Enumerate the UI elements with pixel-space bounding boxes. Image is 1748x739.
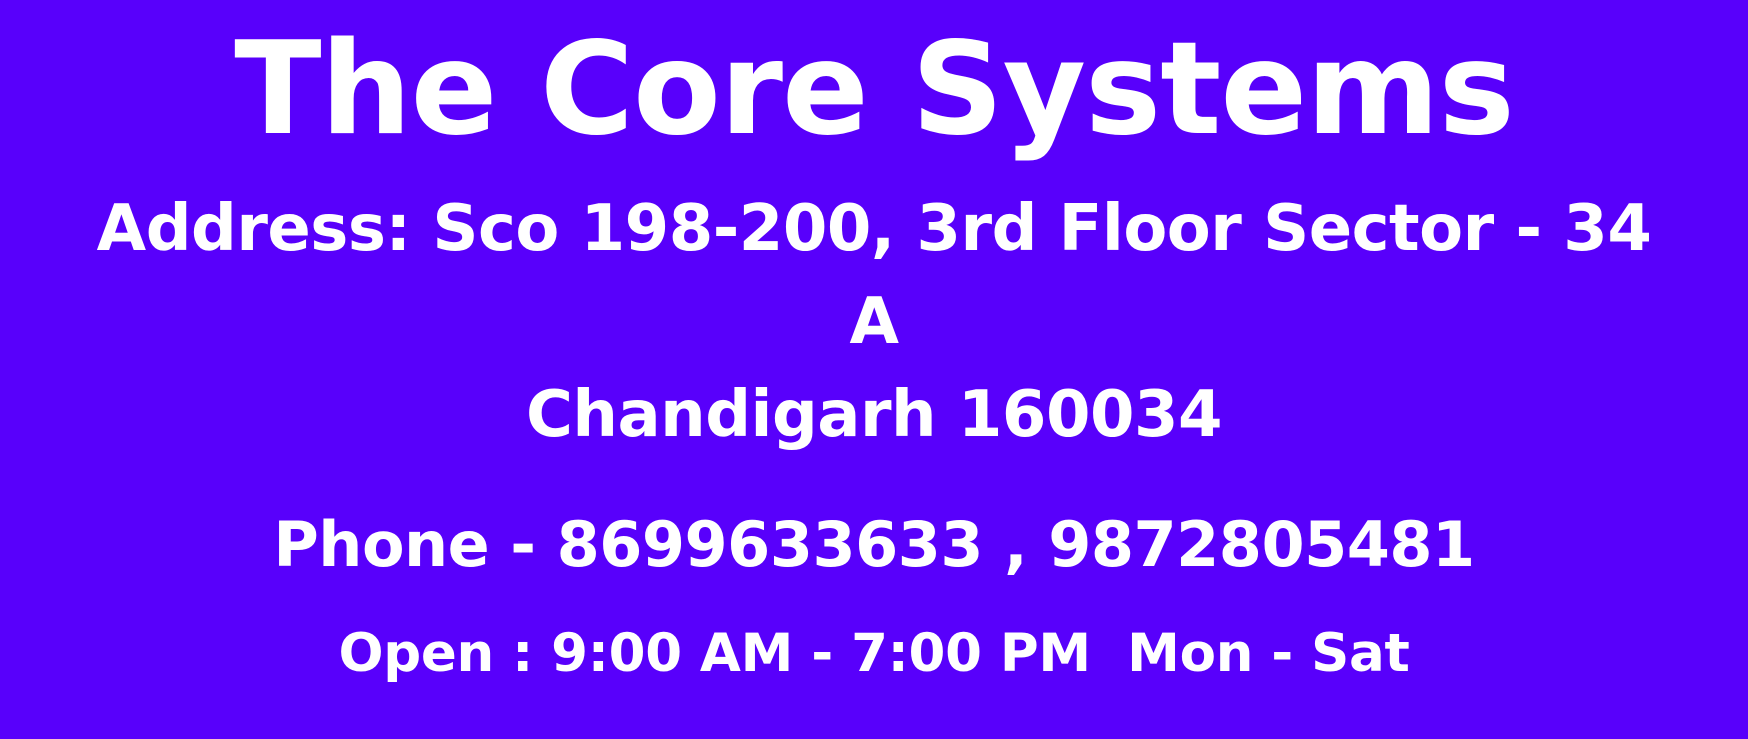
address-block: Address: Sco 198-200, 3rd Floor Sector -… <box>36 183 1712 461</box>
contact-banner: The Core Systems Address: Sco 198-200, 3… <box>0 0 1748 739</box>
company-title: The Core Systems <box>214 18 1534 161</box>
phone-numbers[interactable]: Phone - 8699633633 , 9872805481 <box>273 508 1474 582</box>
address-line-1: Address: Sco 198-200, 3rd Floor Sector -… <box>64 183 1684 369</box>
opening-hours: Open : 9:00 AM - 7:00 PM Mon - Sat <box>338 622 1409 686</box>
address-line-2: Chandigarh 160034 <box>64 369 1684 462</box>
